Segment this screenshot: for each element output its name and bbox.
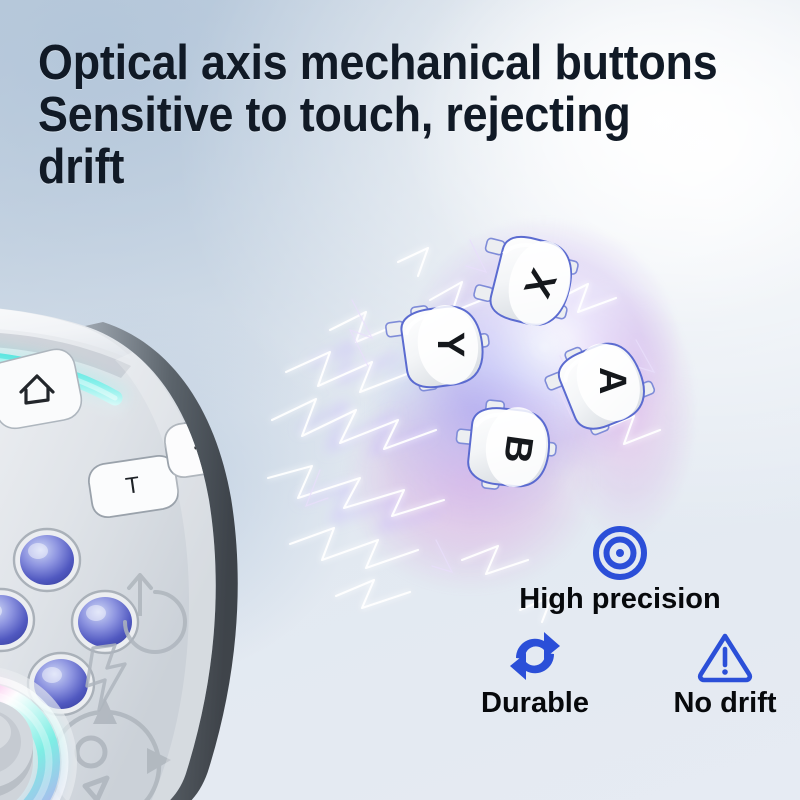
target-icon [593,526,647,580]
headline: Optical axis mechanical buttons Sensitiv… [38,38,720,194]
warning-triangle-icon [694,628,756,684]
promo-image: Optical axis mechanical buttons Sensitiv… [0,0,800,800]
floating-keycap-b: B [447,395,564,498]
keycap-b-label: B [465,389,571,509]
feature-list: High precision Durable No drift [440,520,795,790]
keycap-y-label: Y [404,291,496,399]
feature-no-drift-label: No drift [625,688,800,718]
home-button [0,349,81,428]
t-button: T [89,456,178,517]
keycap-a-label: A [566,327,658,435]
floating-keycap-y: Y [380,293,500,399]
feature-durable: Durable [430,628,640,718]
feature-durable-label: Durable [430,688,640,718]
feature-high-precision: High precision [480,526,760,614]
face-socket-x [14,529,80,591]
headline-line-1: Optical axis mechanical buttons [38,36,718,90]
headline-line-2: Sensitive to touch, rejecting drift [38,90,720,194]
feature-high-precision-label: High precision [480,584,760,614]
game-controller: T [0,300,385,800]
recycle-arrows-icon [506,628,564,684]
face-socket-a [72,591,138,653]
feature-no-drift: No drift [625,628,800,718]
